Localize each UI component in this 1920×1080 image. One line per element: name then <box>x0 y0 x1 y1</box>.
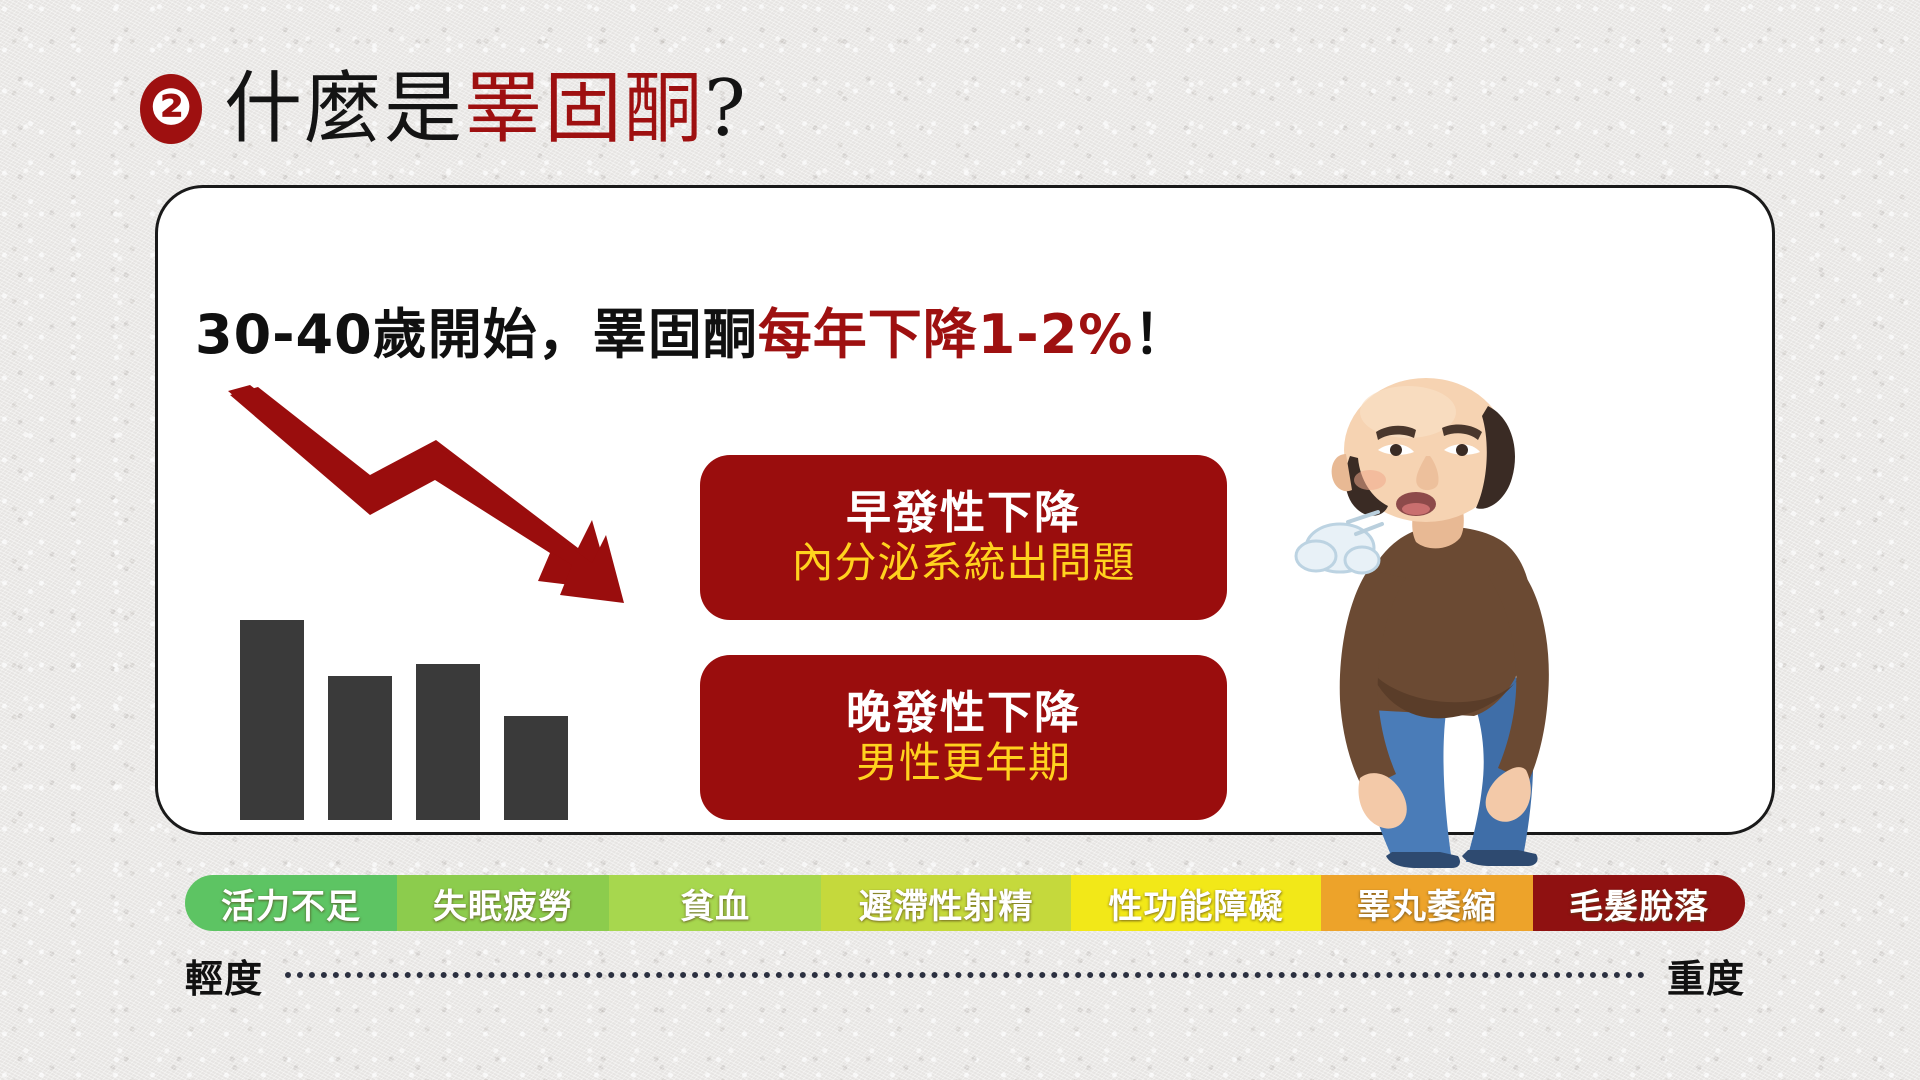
axis-dotted-line <box>285 972 1645 978</box>
severity-segment[interactable]: 睪丸萎縮 <box>1321 875 1533 931</box>
info-box-late-decline[interactable]: 晚發性下降 男性更年期 <box>700 655 1227 820</box>
severity-segment[interactable]: 活力不足 <box>185 875 397 931</box>
axis-label-mild: 輕度 <box>185 948 263 1003</box>
info-box-title: 晚發性下降 <box>846 688 1081 738</box>
severity-label: 失眠疲勞 <box>433 879 573 928</box>
title-red-part: 睪固酮 <box>464 64 704 154</box>
severity-segment[interactable]: 貧血 <box>609 875 821 931</box>
severity-label: 毛髮脫落 <box>1569 879 1709 928</box>
severity-label: 遲滯性射精 <box>859 879 1034 928</box>
tired-elderly-man-illustration <box>1230 370 1670 870</box>
info-box-subtitle: 男性更年期 <box>856 739 1071 787</box>
severity-label: 睪丸萎縮 <box>1357 879 1497 928</box>
subheading: 30-40歲開始，睪固酮每年下降1-2%！ <box>195 290 1188 369</box>
severity-gradient-bar: 活力不足 失眠疲勞 貧血 遲滯性射精 性功能障礙 睪丸萎縮 毛髮脫落 <box>185 875 1745 931</box>
section-number-badge: ❷ <box>140 74 202 144</box>
chart-bar <box>328 676 392 820</box>
subheading-black-part: 30-40歲開始，睪固酮 <box>195 303 758 366</box>
title-black-part: 什麼是 <box>224 64 464 154</box>
title-text: 什麼是睪固酮? <box>224 70 748 148</box>
severity-segment[interactable]: 性功能障礙 <box>1071 875 1321 931</box>
info-box-early-decline[interactable]: 早發性下降 內分泌系統出問題 <box>700 455 1227 620</box>
subheading-red-part: 每年下降1-2% <box>758 303 1134 366</box>
chart-bar <box>416 664 480 820</box>
severity-axis: 輕度 重度 <box>185 945 1745 1005</box>
info-box-subtitle: 內分泌系統出問題 <box>791 539 1135 587</box>
severity-label: 活力不足 <box>221 879 361 928</box>
subheading-tail: ！ <box>1133 303 1188 366</box>
axis-label-severe: 重度 <box>1667 948 1745 1003</box>
severity-segment[interactable]: 毛髮脫落 <box>1533 875 1745 931</box>
severity-segment[interactable]: 失眠疲勞 <box>397 875 609 931</box>
severity-label: 貧血 <box>680 879 750 928</box>
declining-arrow-icon <box>220 385 640 635</box>
page-title: ❷ 什麼是睪固酮? <box>140 70 748 148</box>
chart-bars <box>240 620 568 820</box>
severity-label: 性功能障礙 <box>1108 879 1283 928</box>
severity-segment[interactable]: 遲滯性射精 <box>821 875 1071 931</box>
chart-bar <box>504 716 568 820</box>
title-tail: ? <box>704 64 748 154</box>
chart-bar <box>240 620 304 820</box>
decline-bar-chart <box>230 420 650 820</box>
info-box-title: 早發性下降 <box>846 488 1081 538</box>
